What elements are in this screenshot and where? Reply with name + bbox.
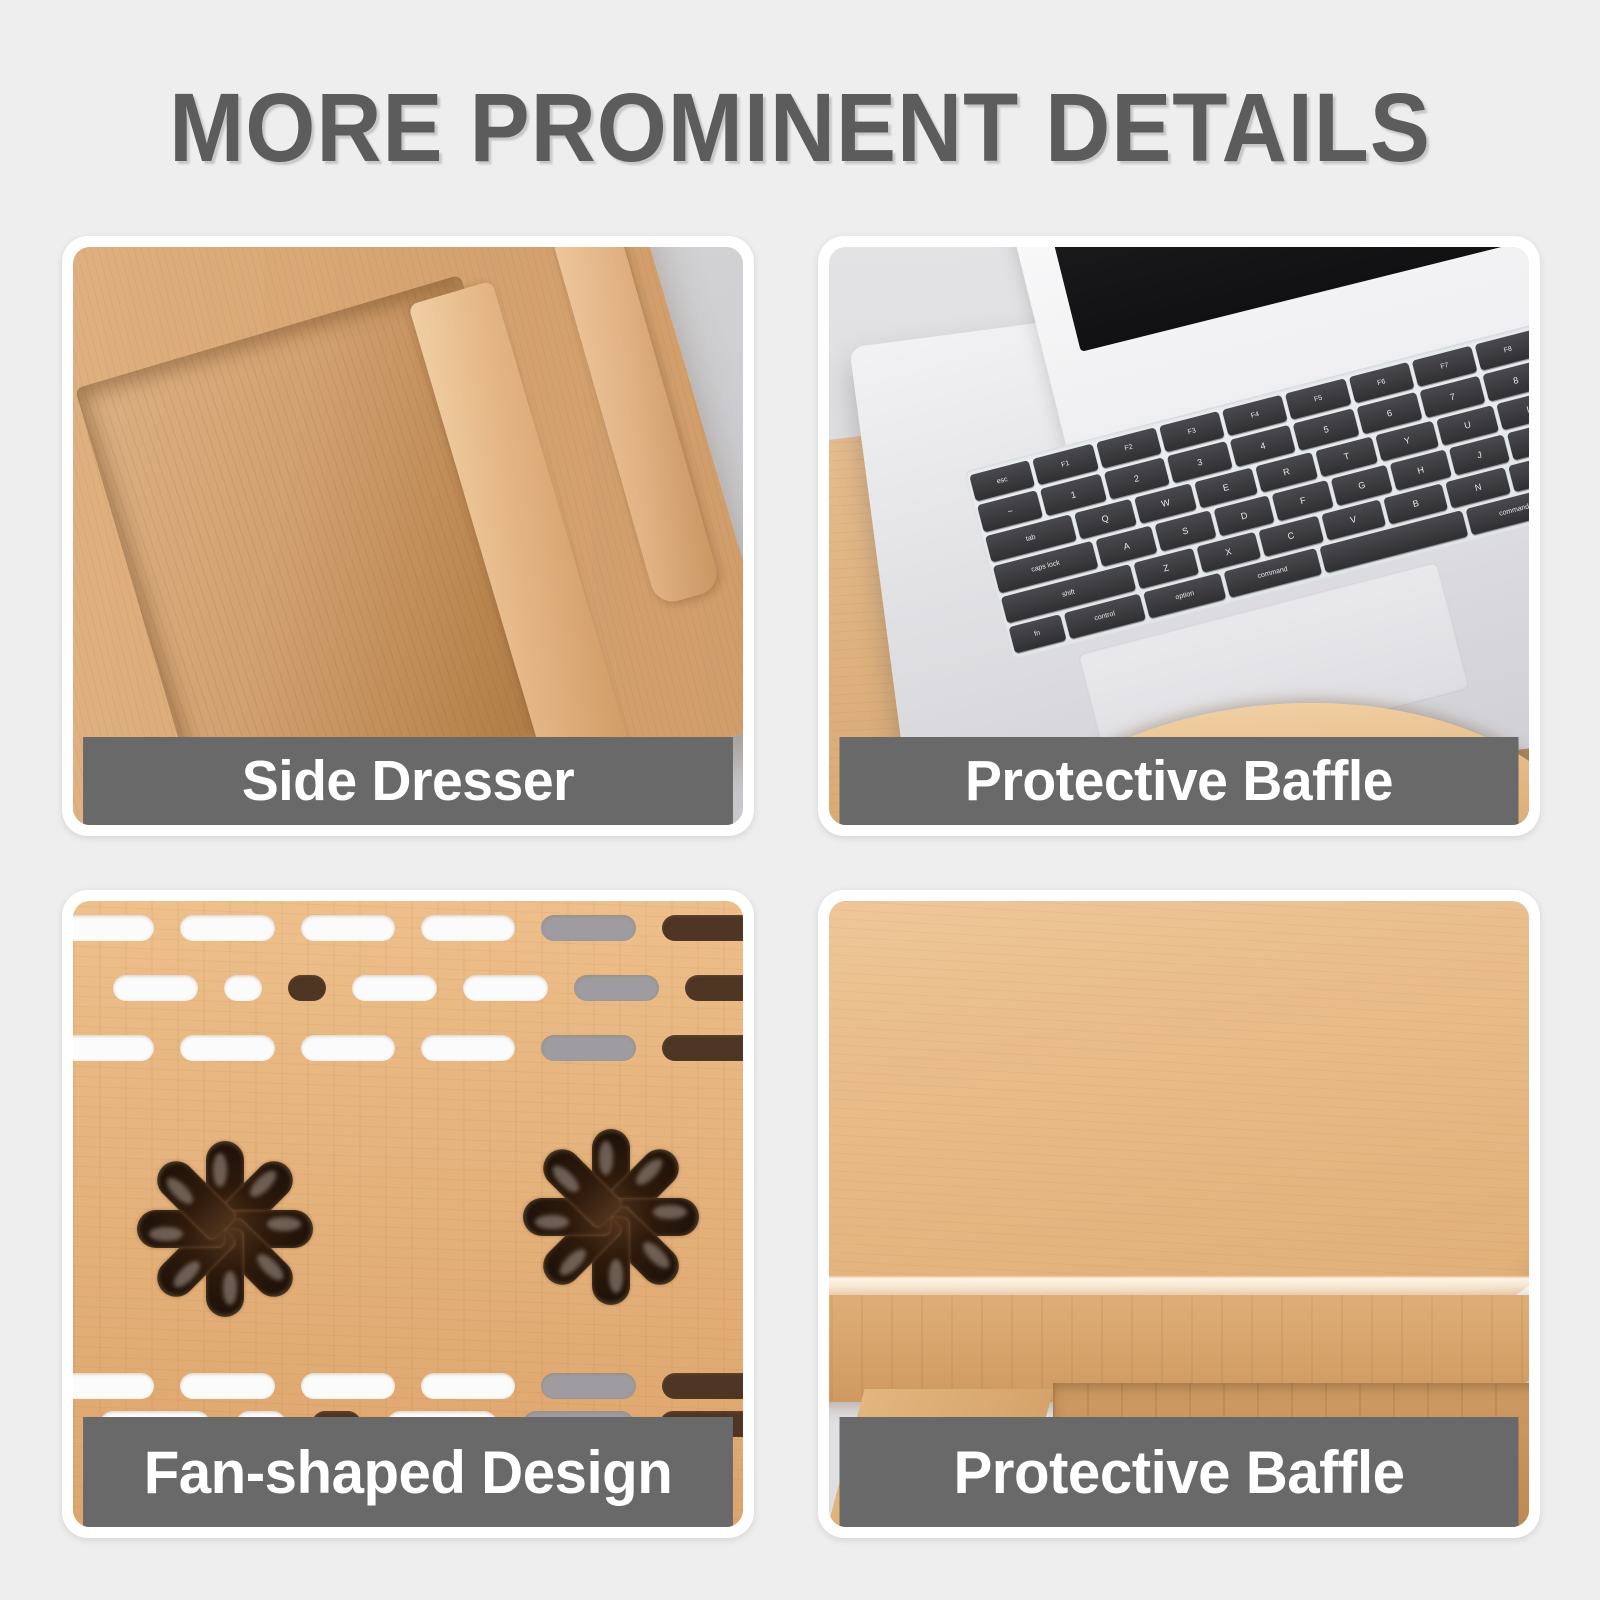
vent-slot [662,1373,743,1399]
panel-inner: Fan-shaped Design [73,901,743,1527]
vent-slot [73,1373,154,1399]
vent-slot [662,1035,743,1061]
vent-slot [73,1035,154,1061]
panel-fan-shaped-design[interactable]: Fan-shaped Design [62,890,754,1538]
vent-slot [288,975,326,1001]
vent-slot [541,1035,635,1061]
bamboo-tabletop [829,901,1529,1314]
vent-slot [301,1035,395,1061]
vent-slot [301,915,395,941]
vent-slot [352,975,437,1001]
panel-protective-baffle-top[interactable]: MacBook esc F1 F2 F3 F4 F5 F6 F7 F8 [818,236,1540,836]
vent-slot-row [73,915,743,941]
vent-slot-row [113,975,743,1001]
vent-slot [224,975,262,1001]
vent-slot [541,915,635,941]
fan-vent-left [119,1123,331,1335]
vent-slot-row [73,1035,743,1061]
panel-protective-baffle-bottom[interactable]: Protective Baffle [818,890,1540,1538]
vent-slot-row [73,1373,743,1399]
vent-slot [421,1035,515,1061]
vent-slot [463,975,548,1001]
vent-slot [685,975,743,1001]
vent-slot [180,915,274,941]
vent-slot [421,915,515,941]
caption-protective-baffle-bottom: Protective Baffle [840,1417,1519,1527]
caption-side-dresser: Side Dresser [83,737,733,825]
caption-fan-shaped-design: Fan-shaped Design [83,1417,733,1527]
vent-slot [113,975,198,1001]
vent-slot [180,1035,274,1061]
vent-slot [180,1373,274,1399]
vent-slot [662,915,743,941]
vent-slot [73,915,154,941]
vent-slot [421,1373,515,1399]
vent-slot [541,1373,635,1399]
panel-inner: Protective Baffle [829,901,1529,1527]
laptop-screen [1045,247,1529,352]
fan-vent-right [505,1111,717,1323]
vent-slot [301,1373,395,1399]
page-title: MORE PROMINENT DETAILS [56,72,1544,184]
infographic-page: MORE PROMINENT DETAILS Side Dresser MacB… [0,0,1600,1600]
caption-protective-baffle-top: Protective Baffle [840,737,1519,825]
panel-inner: MacBook esc F1 F2 F3 F4 F5 F6 F7 F8 [829,247,1529,825]
panel-inner: Side Dresser [73,247,743,825]
vent-slot [574,975,659,1001]
panel-side-dresser[interactable]: Side Dresser [62,236,754,836]
